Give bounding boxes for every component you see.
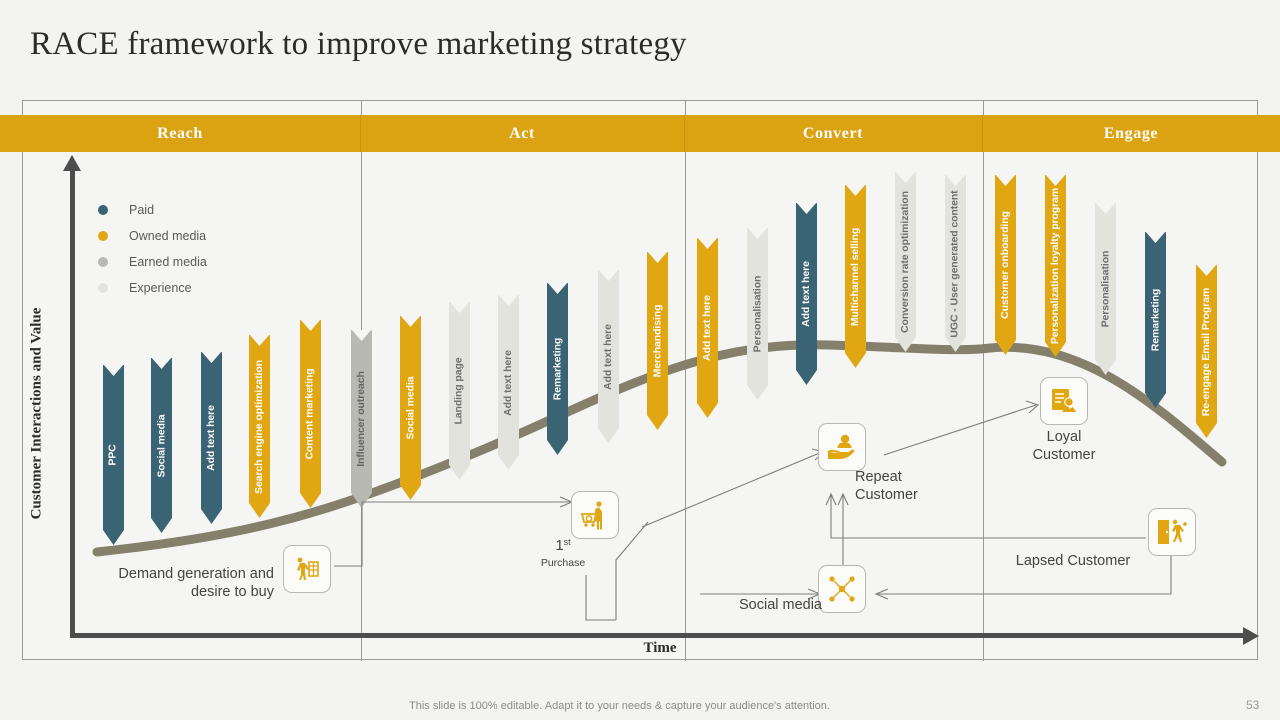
arrow-bar-23[interactable]: Re-engage Email Program [1196, 265, 1217, 438]
callout-repeat-customer: Repeat Customer [855, 468, 965, 504]
arrow-bar-label: Influencer outreach [355, 371, 367, 467]
banner-separator-1 [360, 115, 361, 152]
arrow-bar-label-wrap: Landing page [449, 302, 470, 480]
arrow-bar-label-wrap: Re-engage Email Program [1196, 265, 1217, 438]
arrow-bar-16[interactable]: Multichannel selling [845, 185, 866, 368]
arrow-bar-label: Merchandising [651, 305, 663, 378]
page-number: 53 [1246, 698, 1259, 712]
hand-money-icon [826, 432, 858, 462]
arrow-bar-label: Add text here [602, 324, 614, 390]
legend-item-experience: Experience [98, 275, 207, 301]
arrow-bar-label: Add text here [205, 405, 217, 471]
arrow-bar-10[interactable]: Remarketing [547, 283, 568, 455]
stage-header-convert[interactable]: Convert [684, 115, 982, 152]
arrow-bar-label: UGC - User generated content [949, 190, 961, 337]
arrow-bar-label-wrap: Remarketing [547, 283, 568, 455]
footer-note: This slide is 100% editable. Adapt it to… [409, 700, 830, 712]
arrow-bar-label-wrap: Add text here [498, 295, 519, 470]
legend-item-owned-media: Owned media [98, 223, 207, 249]
arrow-bar-label-wrap: Social media [151, 358, 172, 533]
x-axis-label: Time [560, 640, 760, 657]
network-icon-box[interactable] [818, 565, 866, 613]
loyalty-card-icon-box[interactable] [1040, 377, 1088, 425]
arrow-bar-14[interactable]: Personalisation [747, 228, 768, 400]
banner-separator-3 [982, 115, 983, 152]
legend-swatch-earned-media [98, 257, 108, 267]
stage-banner: Reach Act Convert Engage [0, 115, 1280, 152]
arrow-bar-label-wrap: Remarketing [1145, 232, 1166, 408]
arrow-bar-label-wrap: Conversion rate optimization [895, 172, 916, 352]
callout-loyal-customer: Loyal Customer [1018, 428, 1110, 464]
arrow-bar-label: Personalization loyalty program [1049, 188, 1061, 344]
arrow-bar-18[interactable]: UGC - User generated content [945, 175, 966, 352]
stage-header-act[interactable]: Act [360, 115, 684, 152]
arrow-bar-5[interactable]: Content marketing [300, 320, 321, 508]
arrow-bar-21[interactable]: Personalisation [1095, 203, 1116, 375]
column-divider-3 [983, 101, 984, 661]
arrow-bar-label-wrap: Merchandising [647, 252, 668, 430]
arrow-bar-17[interactable]: Conversion rate optimization [895, 172, 916, 352]
legend-label-owned-media: Owned media [129, 229, 206, 243]
arrow-bar-7[interactable]: Social media [400, 316, 421, 500]
arrow-bar-label-wrap: Add text here [598, 270, 619, 443]
page-title: RACE framework to improve marketing stra… [30, 26, 687, 63]
callout-lapsed-customer: Lapsed Customer [1002, 552, 1144, 570]
arrow-bar-label: Add text here [701, 295, 713, 361]
callout-first-purchase: 1st Purchase [525, 537, 601, 570]
arrow-bar-label-wrap: Influencer outreach [351, 330, 372, 508]
arrow-bar-label-wrap: Add text here [697, 238, 718, 418]
arrow-bar-4[interactable]: Search engine optimization [249, 335, 270, 518]
arrow-bar-label: Add text here [502, 350, 514, 416]
arrow-bar-label: Personalisation [751, 276, 763, 353]
arrow-bar-label-wrap: Add text here [201, 352, 222, 524]
arrow-bar-9[interactable]: Add text here [498, 295, 519, 470]
arrow-bar-label: Content marketing [304, 368, 316, 459]
arrow-bar-label-wrap: Social media [400, 316, 421, 500]
legend-swatch-paid [98, 205, 108, 215]
arrow-bar-20[interactable]: Personalization loyalty program [1045, 175, 1066, 357]
stage-header-reach[interactable]: Reach [0, 115, 360, 152]
arrow-bar-label-wrap: Multichannel selling [845, 185, 866, 368]
network-icon [827, 574, 857, 604]
arrow-bar-label: Conversion rate optimization [899, 191, 911, 333]
arrow-bar-label-wrap: Personalisation [747, 228, 768, 400]
arrow-bar-15[interactable]: Add text here [796, 203, 817, 385]
arrow-bar-19[interactable]: Customer onboarding [995, 175, 1016, 355]
arrow-bar-13[interactable]: Add text here [697, 238, 718, 418]
arrow-bar-label: Social media [155, 414, 167, 477]
legend-label-experience: Experience [129, 281, 192, 295]
arrow-bar-label-wrap: UGC - User generated content [945, 175, 966, 352]
arrow-bar-1[interactable]: PPC [103, 365, 124, 545]
arrow-bar-label: Remarketing [1149, 289, 1161, 352]
arrow-bar-label: Landing page [453, 357, 465, 424]
arrow-bar-label: Customer onboarding [999, 211, 1011, 319]
callout-demand-generation: Demand generation and desire to buy [88, 565, 274, 601]
legend-label-earned-media: Earned media [129, 255, 207, 269]
arrow-bar-22[interactable]: Remarketing [1145, 232, 1166, 408]
arrow-bar-label-wrap: Search engine optimization [249, 335, 270, 518]
arrow-bar-11[interactable]: Add text here [598, 270, 619, 443]
exit-door-icon-box[interactable] [1148, 508, 1196, 556]
arrow-bar-label: Add text here [800, 261, 812, 327]
legend-swatch-owned-media [98, 231, 108, 241]
shopper-icon [292, 554, 322, 584]
arrow-bar-label: Re-engage Email Program [1200, 287, 1212, 415]
hand-money-icon-box[interactable] [818, 423, 866, 471]
arrow-bar-label: Social media [404, 377, 416, 440]
arrow-bar-label-wrap: Personalization loyalty program [1045, 175, 1066, 357]
loyalty-card-icon [1049, 386, 1079, 416]
shopping-cart-icon [579, 499, 611, 531]
stage-header-engage[interactable]: Engage [982, 115, 1280, 152]
shopping-cart-icon-box[interactable] [571, 491, 619, 539]
shopper-icon-box[interactable] [283, 545, 331, 593]
arrow-bar-label: PPC [107, 444, 119, 465]
y-axis-line [70, 168, 75, 638]
x-axis-arrowhead [1243, 627, 1259, 645]
legend-label-paid: Paid [129, 203, 154, 217]
arrow-bar-label: Remarketing [551, 338, 563, 401]
legend: Paid Owned media Earned media Experience [98, 197, 207, 301]
arrow-bar-label-wrap: Personalisation [1095, 203, 1116, 375]
arrow-bar-label: Search engine optimization [253, 360, 265, 494]
legend-swatch-experience [98, 283, 108, 293]
legend-item-earned-media: Earned media [98, 249, 207, 275]
arrow-bar-8[interactable]: Landing page [449, 302, 470, 480]
arrow-bar-2[interactable]: Social media [151, 358, 172, 533]
x-axis-line [70, 633, 1245, 638]
arrow-bar-label-wrap: Add text here [796, 203, 817, 385]
callout-social-media: Social media [712, 596, 822, 614]
arrow-bar-12[interactable]: Merchandising [647, 252, 668, 430]
arrow-bar-label: Personalisation [1099, 251, 1111, 328]
column-divider-2 [685, 101, 686, 661]
arrow-bar-label-wrap: Content marketing [300, 320, 321, 508]
arrow-bar-6[interactable]: Influencer outreach [351, 330, 372, 508]
arrow-bar-label-wrap: Customer onboarding [995, 175, 1016, 355]
legend-item-paid: Paid [98, 197, 207, 223]
banner-separator-2 [684, 115, 685, 152]
arrow-bar-label-wrap: PPC [103, 365, 124, 545]
arrow-bar-label: Multichannel selling [849, 227, 861, 325]
exit-door-icon [1156, 517, 1188, 547]
arrow-bar-3[interactable]: Add text here [201, 352, 222, 524]
y-axis-label: Customer Interactions and Value [29, 284, 46, 544]
